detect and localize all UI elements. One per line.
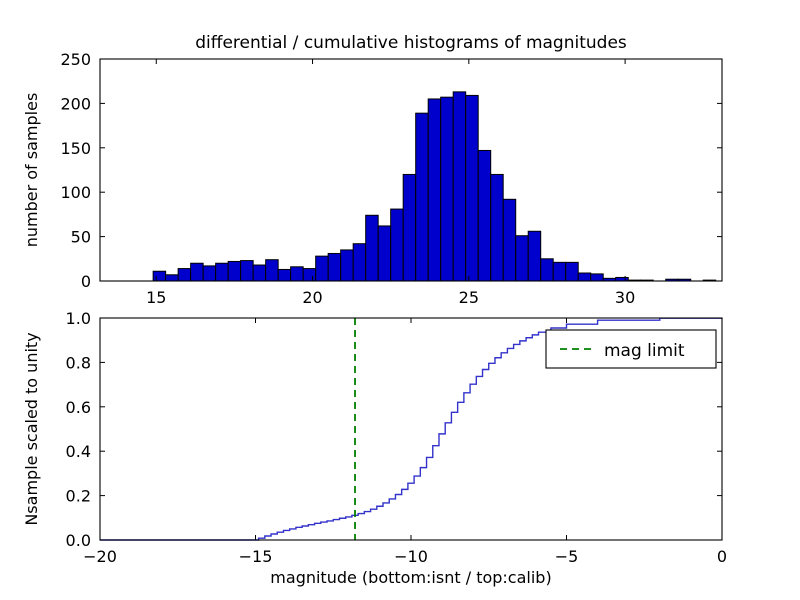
- histogram-bar: [441, 97, 454, 281]
- y-tick-label: 0.4: [66, 442, 91, 461]
- histogram-bar: [416, 113, 429, 281]
- y-tick-label: 0.8: [66, 353, 91, 372]
- x-tick-label: 0: [717, 547, 727, 566]
- histogram-bar: [228, 261, 241, 281]
- x-tick-label: 25: [459, 288, 479, 307]
- histogram-bar: [428, 99, 441, 281]
- x-tick-label: −10: [394, 547, 428, 566]
- histogram-bar: [178, 269, 191, 281]
- histogram-bar: [316, 256, 329, 281]
- histogram-bar: [203, 266, 216, 281]
- histogram-bar: [366, 215, 379, 281]
- histogram-bar: [478, 150, 491, 281]
- legend-label-mag-limit: mag limit: [604, 341, 685, 361]
- histogram-bar: [153, 271, 166, 281]
- histogram-bar: [566, 262, 579, 281]
- histogram-bar: [466, 95, 479, 281]
- chart-title: differential / cumulative histograms of …: [195, 33, 627, 53]
- histogram-bar: [191, 263, 204, 281]
- histogram-bar: [553, 262, 566, 281]
- y-tick-label: 0.6: [66, 398, 91, 417]
- x-tick-label: 20: [302, 288, 322, 307]
- histogram-bar: [491, 174, 504, 281]
- histogram-bar: [291, 267, 304, 281]
- y-tick-label: 1.0: [66, 309, 91, 328]
- figure-background: [0, 0, 800, 600]
- bottom-y-axis-label: Nsample scaled to unity: [22, 332, 41, 525]
- chart-canvas: differential / cumulative histograms of …: [0, 0, 800, 600]
- histogram-bar: [341, 250, 354, 281]
- histogram-bar: [516, 236, 529, 281]
- histogram-bar: [578, 273, 591, 281]
- histogram-bar: [328, 253, 341, 281]
- histogram-bar: [253, 265, 266, 281]
- y-tick-label: 0: [81, 272, 91, 291]
- histogram-bar: [353, 244, 366, 281]
- histogram-bar: [266, 260, 279, 281]
- histogram-bar: [591, 274, 604, 281]
- bottom-x-axis-label: magnitude (bottom:isnt / top:calib): [270, 568, 551, 587]
- histogram-bar: [278, 269, 291, 281]
- x-tick-label: 15: [146, 288, 166, 307]
- histogram-bar: [303, 269, 316, 281]
- histogram-bar: [403, 174, 416, 281]
- histogram-bar: [216, 263, 229, 281]
- y-tick-label: 250: [60, 50, 91, 69]
- x-tick-label: 30: [615, 288, 635, 307]
- y-tick-label: 200: [60, 94, 91, 113]
- matplotlib-figure: differential / cumulative histograms of …: [0, 0, 800, 600]
- histogram-bar: [528, 231, 541, 281]
- histogram-bar: [453, 92, 466, 281]
- histogram-bar: [241, 261, 254, 281]
- histogram-bar: [503, 199, 515, 281]
- x-tick-label: −15: [239, 547, 273, 566]
- y-tick-label: 50: [71, 228, 91, 247]
- histogram-bar: [391, 209, 404, 281]
- y-tick-label: 100: [60, 183, 91, 202]
- x-tick-label: −20: [83, 547, 117, 566]
- top-y-axis-label: number of samples: [22, 93, 41, 248]
- histogram-bar: [541, 259, 554, 281]
- x-tick-label: −5: [555, 547, 579, 566]
- y-tick-label: 150: [60, 139, 91, 158]
- histogram-bar: [166, 275, 179, 281]
- histogram-bar: [378, 226, 391, 281]
- legend[interactable]: mag limit: [546, 330, 716, 368]
- y-tick-label: 0.2: [66, 487, 91, 506]
